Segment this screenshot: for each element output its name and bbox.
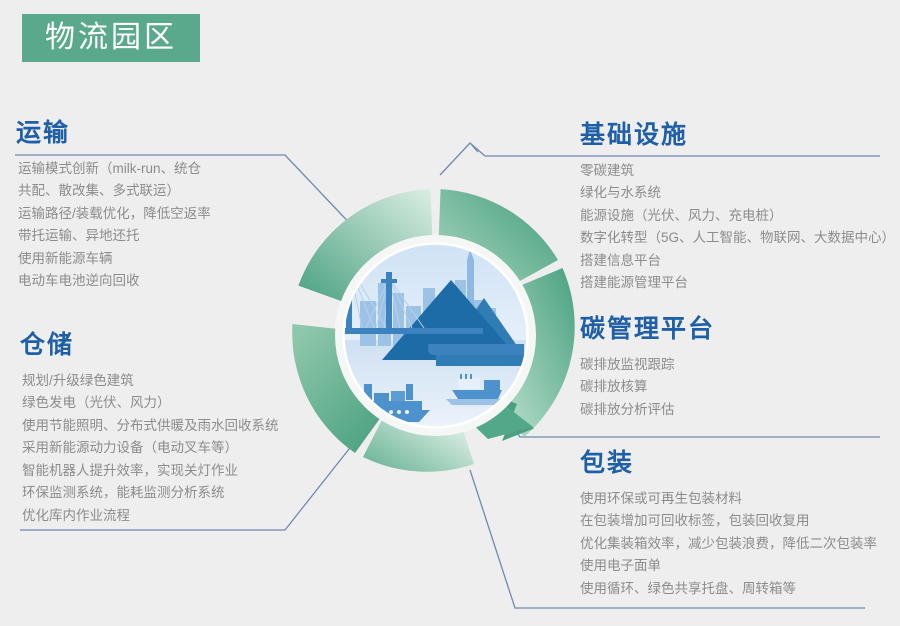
list-item: 能源设施（光伏、风力、充电桩） [580,205,895,228]
section-packaging-heading: 包装 [580,450,877,478]
pier [428,344,524,355]
list-item: 环保监测系统，能耗监测分析系统 [22,482,279,505]
section-transport: 运输 运输模式创新（milk-run、统仓 共配、散改集、多式联运） 运输路径/… [16,120,211,293]
page-title-badge: 物流园区 [22,14,200,62]
section-carbon-platform-list: 碳排放监视跟踪 碳排放核算 碳排放分析评估 [580,354,715,422]
center-graphic [288,188,583,483]
list-item: 数字化转型（5G、人工智能、物联网、大数据中心） [580,227,895,250]
section-carbon-platform-heading: 碳管理平台 [580,316,715,344]
section-infrastructure-list: 零碳建筑 绿化与水系统 能源设施（光伏、风力、充电桩） 数字化转型（5G、人工智… [580,160,895,295]
list-item: 电动车电池逆向回收 [18,270,211,293]
section-transport-list: 运输模式创新（milk-run、统仓 共配、散改集、多式联运） 运输路径/装载优… [16,158,211,293]
shore [436,355,524,366]
section-infrastructure-heading: 基础设施 [580,122,895,150]
section-packaging-list: 使用环保或可再生包装材料 在包装增加可回收标签，包装回收复用 优化集装箱效率，减… [580,488,877,601]
page-title: 物流园区 [45,23,177,53]
section-carbon-platform: 碳管理平台 碳排放监视跟踪 碳排放核算 碳排放分析评估 [580,316,715,421]
section-warehouse-list: 规划/升级绿色建筑 绿色发电（光伏、风力） 使用节能照明、分布式供暖及雨水回收系… [20,370,279,528]
list-item: 共配、散改集、多式联运） [18,180,211,203]
list-item: 使用循环、绿色共享托盘、周转箱等 [580,578,877,601]
list-item: 智能机器人提升效率，实现关灯作业 [22,460,279,483]
list-item: 运输模式创新（milk-run、统仓 [18,158,211,181]
list-item: 绿色发电（光伏、风力） [22,392,279,415]
section-packaging: 包装 使用环保或可再生包装材料 在包装增加可回收标签，包装回收复用 优化集装箱效… [580,450,877,600]
list-item: 在包装增加可回收标签，包装回收复用 [580,510,877,533]
list-item: 带托运输、异地还托 [18,225,211,248]
list-item: 运输路径/装载优化，降低空返率 [18,203,211,226]
section-warehouse: 仓储 规划/升级绿色建筑 绿色发电（光伏、风力） 使用节能照明、分布式供暖及雨水… [20,332,279,527]
list-item: 优化集装箱效率，减少包装浪费，降低二次包装率 [580,533,877,556]
list-item: 采用新能源动力设备（电动叉车等） [22,437,279,460]
list-item: 优化库内作业流程 [22,505,279,528]
list-item: 碳排放分析评估 [580,399,715,422]
section-warehouse-heading: 仓储 [20,332,279,360]
list-item: 搭建信息平台 [580,250,895,273]
section-infrastructure: 基础设施 零碳建筑 绿化与水系统 能源设施（光伏、风力、充电桩） 数字化转型（5… [580,122,895,295]
list-item: 使用电子面单 [580,555,877,578]
list-item: 碳排放监视跟踪 [580,354,715,377]
list-item: 碳排放核算 [580,376,715,399]
list-item: 零碳建筑 [580,160,895,183]
list-item: 搭建能源管理平台 [580,272,895,295]
list-item: 使用节能照明、分布式供暖及雨水回收系统 [22,415,279,438]
list-item: 使用新能源车辆 [18,248,211,271]
list-item: 规划/升级绿色建筑 [22,370,279,393]
list-item: 使用环保或可再生包装材料 [580,488,877,511]
list-item: 绿化与水系统 [580,182,895,205]
section-transport-heading: 运输 [16,120,211,148]
infographic-canvas: 物流园区 [0,0,900,626]
